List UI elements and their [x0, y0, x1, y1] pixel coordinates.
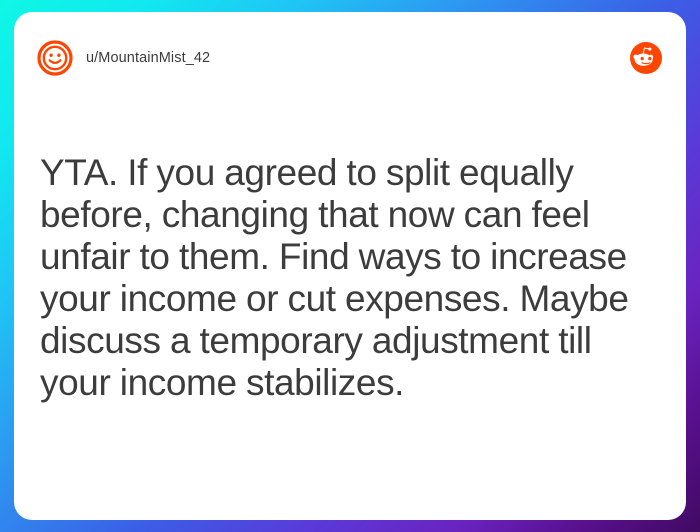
card-header: u/MountainMist_42 — [14, 12, 686, 104]
smiley-face-icon — [36, 39, 74, 77]
post-text: YTA. If you agreed to split equally befo… — [40, 152, 660, 404]
post-card: u/MountainMist_42 YTA. If you agreed to … — [14, 12, 686, 520]
reddit-snoo-icon — [630, 42, 662, 74]
card-body: YTA. If you agreed to split equally befo… — [40, 152, 660, 404]
username-label: u/MountainMist_42 — [86, 50, 210, 66]
gradient-background: u/MountainMist_42 YTA. If you agreed to … — [0, 0, 700, 532]
